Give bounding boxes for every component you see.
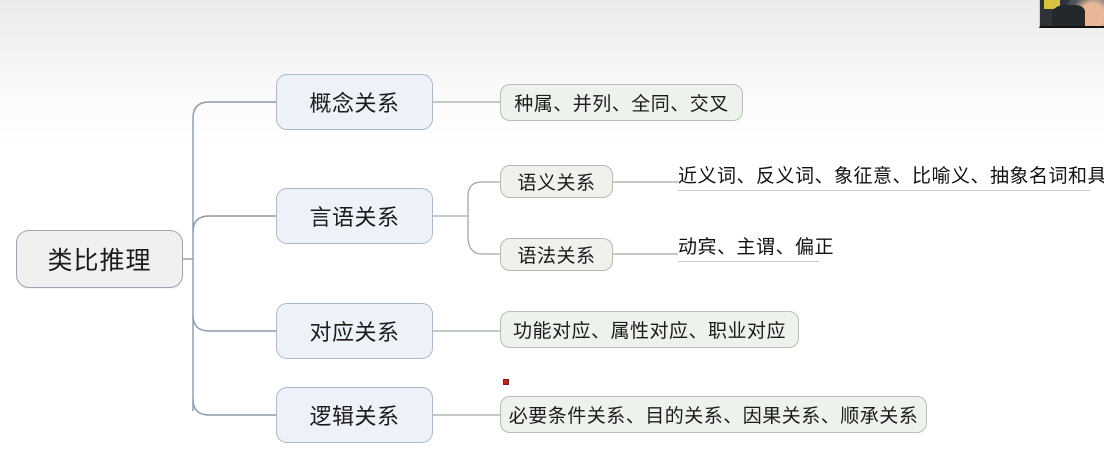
connector-to-grammar <box>468 236 500 254</box>
connector-to-logic <box>193 399 276 415</box>
sub-node-grammar[interactable]: 语法关系 <box>500 238 613 271</box>
sub-node-semantic[interactable]: 语义关系 <box>500 165 613 198</box>
sub-label-semantic: 语义关系 <box>517 168 595 195</box>
branch-node-logic[interactable]: 逻辑关系 <box>276 387 433 443</box>
red-dot-marker <box>503 379 509 385</box>
connector-to-semantic <box>468 182 500 196</box>
leaf-node-correspondence-details[interactable]: 功能对应、属性对应、职业对应 <box>500 311 799 348</box>
mindmap-canvas: 类比推理 概念关系 种属、并列、全同、交叉 言语关系 语义关系 近义词、反义词、… <box>0 0 1104 457</box>
leaf-node-concept-details[interactable]: 种属、并列、全同、交叉 <box>500 84 743 121</box>
leaf-label-logic-details: 必要条件关系、目的关系、因果关系、顺承关系 <box>509 401 919 428</box>
mindmap-root-node[interactable]: 类比推理 <box>16 230 183 288</box>
detail-text-semantic: 近义词、反义词、象征意、比喻义、抽象名词和具体名词 <box>678 161 1090 191</box>
webcam-person-silhouette <box>1052 5 1085 26</box>
leaf-label-correspondence-details: 功能对应、属性对应、职业对应 <box>513 316 786 343</box>
leaf-node-logic-details[interactable]: 必要条件关系、目的关系、因果关系、顺承关系 <box>500 396 927 433</box>
detail-text-grammar: 动宾、主谓、偏正 <box>678 232 819 262</box>
branch-node-correspondence[interactable]: 对应关系 <box>276 303 433 359</box>
presenter-webcam-thumbnail[interactable] <box>1039 0 1104 28</box>
branch-label-concept: 概念关系 <box>309 86 399 118</box>
branch-label-logic: 逻辑关系 <box>309 399 399 431</box>
branch-node-verbal[interactable]: 言语关系 <box>276 188 433 244</box>
sub-label-grammar: 语法关系 <box>517 241 595 268</box>
connector-to-correspondence <box>193 315 276 331</box>
detail-label-grammar: 动宾、主谓、偏正 <box>678 232 834 259</box>
branch-node-concept[interactable]: 概念关系 <box>276 74 433 130</box>
branch-label-verbal: 言语关系 <box>309 200 399 232</box>
connector-to-concept <box>193 102 276 118</box>
leaf-label-concept-details: 种属、并列、全同、交叉 <box>514 89 729 116</box>
connector-lines <box>0 0 1104 457</box>
mindmap-root-label: 类比推理 <box>47 241 151 277</box>
detail-label-semantic: 近义词、反义词、象征意、比喻义、抽象名词和具体名词 <box>678 161 1104 188</box>
connector-to-verbal <box>193 216 276 232</box>
branch-label-correspondence: 对应关系 <box>309 315 399 347</box>
